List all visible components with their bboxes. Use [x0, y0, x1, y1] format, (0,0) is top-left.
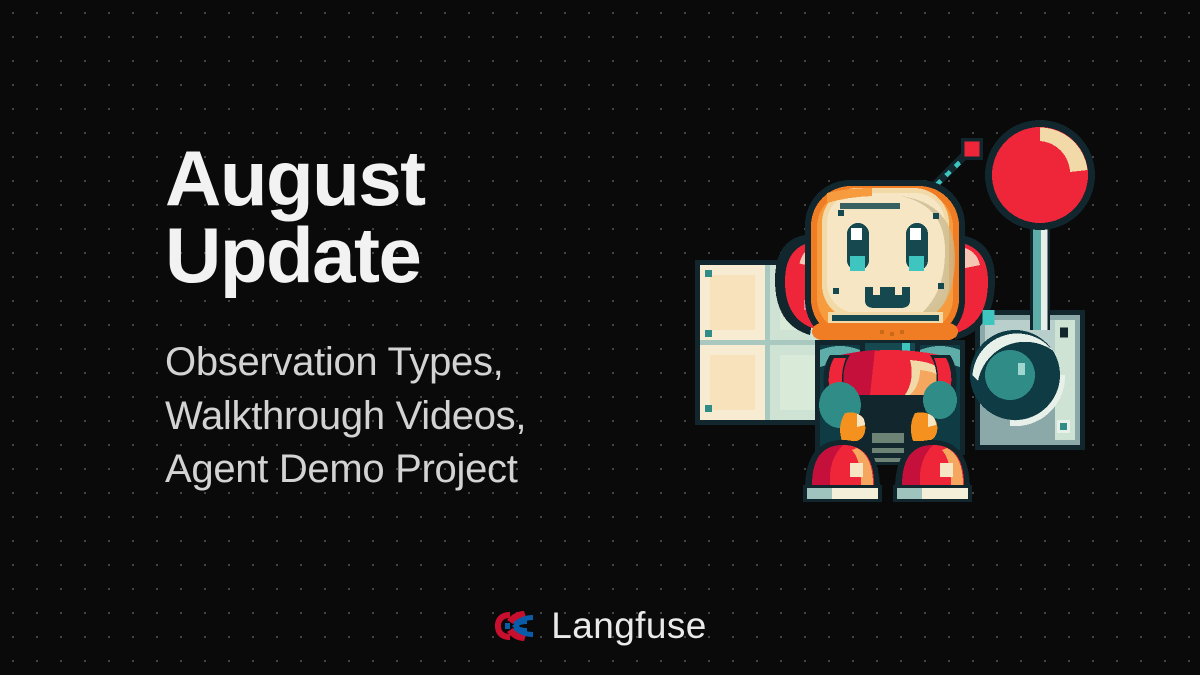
- page-title: August Update: [165, 140, 635, 294]
- headline-block: August Update Observation Types, Walkthr…: [165, 140, 635, 496]
- robot-helmet: [805, 180, 965, 345]
- page-subtitle: Observation Types, Walkthrough Videos, A…: [165, 336, 635, 496]
- machine-panel: [970, 310, 1085, 450]
- red-balloon: [985, 120, 1095, 230]
- robot-arm-raised: [1030, 220, 1050, 330]
- brand-lockup: Langfuse: [0, 605, 1200, 647]
- brand-name: Langfuse: [551, 605, 706, 647]
- banner-canvas: August Update Observation Types, Walkthr…: [0, 0, 1200, 675]
- langfuse-logo-icon: [493, 609, 535, 643]
- pixel-art-robot-illustration: [640, 110, 1140, 510]
